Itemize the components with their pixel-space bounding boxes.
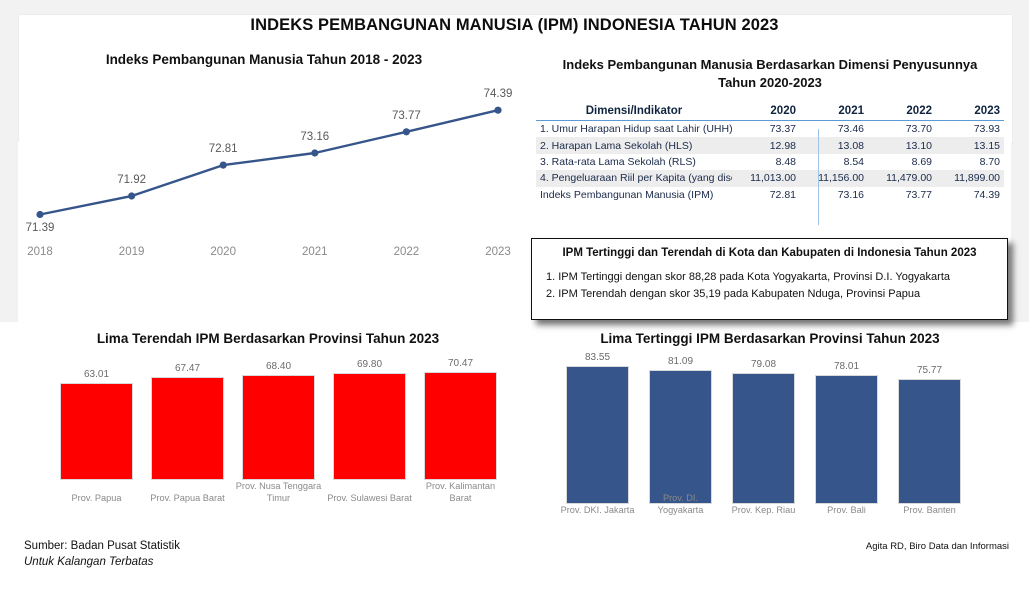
- cell-value: 73.46: [800, 121, 868, 138]
- callout-box-ipm-extremes: IPM Tertinggi dan Terendah di Kota dan K…: [531, 238, 1008, 320]
- bar-rect[interactable]: [649, 370, 712, 504]
- row-label: 3. Rata-rata Lama Sekolah (RLS): [536, 154, 732, 170]
- bar-rect[interactable]: [815, 375, 878, 504]
- bar-category-label: Prov. Nusa Tenggara Timur: [234, 481, 323, 504]
- bar-chart-lowest-title: Lima Terendah IPM Berdasarkan Provinsi T…: [8, 331, 528, 346]
- line-point-label: 73.77: [392, 110, 421, 122]
- table-vertical-divider: [818, 129, 819, 225]
- column-header-2022[interactable]: 2022: [868, 103, 936, 121]
- dimension-table-panel: Indeks Pembangunan Manusia Berdasarkan D…: [520, 56, 1020, 203]
- table-row: 1. Umur Harapan Hidup saat Lahir (UHH)73…: [536, 121, 1004, 138]
- column-header-2021[interactable]: 2021: [800, 103, 868, 121]
- bar-column: 69.80Prov. Sulawesi Barat: [333, 358, 406, 518]
- line-point-label: 73.16: [300, 131, 329, 143]
- line-point-label: 72.81: [209, 143, 238, 155]
- bar-category-label: Prov. DKI. Jakarta: [558, 505, 637, 517]
- page-title: INDEKS PEMBANGUNAN MANUSIA (IPM) INDONES…: [0, 16, 1029, 35]
- credit-label: Agita RD, Biro Data dan Informasi: [866, 541, 1009, 552]
- x-axis-tick-label: 2022: [394, 246, 420, 258]
- bar-column: 68.40Prov. Nusa Tenggara Timur: [242, 358, 315, 518]
- bar-category-label: Prov. Papua: [52, 493, 141, 505]
- bar-value-label: 63.01: [60, 369, 133, 380]
- bar-rect[interactable]: [732, 373, 795, 504]
- dimension-table-title-line1: Indeks Pembangunan Manusia Berdasarkan D…: [520, 56, 1020, 74]
- bar-rect[interactable]: [242, 375, 315, 480]
- cell-value: 8.69: [868, 154, 936, 170]
- column-header-2020[interactable]: 2020: [732, 103, 800, 121]
- bar-rect[interactable]: [898, 379, 961, 504]
- callout-line-terendah: 2. IPM Terendah dengan skor 35,19 pada K…: [546, 286, 993, 303]
- column-header-dimensi[interactable]: Dimensi/Indikator: [536, 103, 732, 121]
- cell-value: 12.98: [732, 137, 800, 153]
- bar-value-label: 79.08: [732, 359, 795, 370]
- table-header-row: Dimensi/Indikator 2020 2021 2022 2023: [536, 103, 1004, 121]
- x-axis-tick-label: 2019: [119, 246, 145, 258]
- bar-chart-highest-title: Lima Tertinggi IPM Berdasarkan Provinsi …: [520, 331, 1020, 346]
- cell-value: 73.70: [868, 121, 936, 138]
- line-point-label: 71.39: [26, 222, 55, 234]
- bar-rect[interactable]: [424, 372, 497, 480]
- cell-value: 8.70: [936, 154, 1004, 170]
- bar-column: 81.09Prov. DI. Yogyakarta: [649, 352, 712, 518]
- bar-value-label: 68.40: [242, 361, 315, 372]
- bar-rect[interactable]: [566, 366, 629, 504]
- row-label: 4. Pengeluaraan Riil per Kapita (yang di…: [536, 170, 732, 186]
- bar-column: 63.01Prov. Papua: [60, 358, 133, 518]
- bar-category-label: Prov. Bali: [807, 505, 886, 517]
- bar-value-label: 69.80: [333, 359, 406, 370]
- table-row: 2. Harapan Lama Sekolah (HLS)12.9813.081…: [536, 137, 1004, 153]
- bar-category-label: Prov. Sulawesi Barat: [325, 493, 414, 505]
- cell-value: 73.16: [800, 187, 868, 203]
- dimension-table: Dimensi/Indikator 2020 2021 2022 2023 1.…: [536, 103, 1004, 203]
- bar-category-label: Prov. Kep. Riau: [724, 505, 803, 517]
- bar-category-label: Prov. Banten: [890, 505, 969, 517]
- x-axis-tick-label: 2021: [302, 246, 328, 258]
- cell-value: 73.77: [868, 187, 936, 203]
- cell-value: 73.93: [936, 121, 1004, 138]
- line-point-label: 71.92: [117, 174, 146, 186]
- bar-category-label: Prov. DI. Yogyakarta: [641, 493, 720, 516]
- bar-column: 83.55Prov. DKI. Jakarta: [566, 352, 629, 518]
- line-point-label: 74.39: [484, 88, 513, 100]
- table-row: Indeks Pembangunan Manusia (IPM)72.8173.…: [536, 187, 1004, 203]
- row-label: 2. Harapan Lama Sekolah (HLS): [536, 137, 732, 153]
- callout-title: IPM Tertinggi dan Terendah di Kota dan K…: [546, 247, 993, 259]
- bar-column: 78.01Prov. Bali: [815, 352, 878, 518]
- bar-chart-highest-plot: 83.55Prov. DKI. Jakarta81.09Prov. DI. Yo…: [566, 352, 1016, 518]
- bar-category-label: Prov. Papua Barat: [143, 493, 232, 505]
- cell-value: 11,156.00: [800, 170, 868, 186]
- cell-value: 13.10: [868, 137, 936, 153]
- bar-column: 79.08Prov. Kep. Riau: [732, 352, 795, 518]
- bar-value-label: 78.01: [815, 361, 878, 372]
- x-axis-tick-label: 2023: [485, 246, 511, 258]
- bar-value-label: 83.55: [566, 352, 629, 363]
- line-chart-ipm: Indeks Pembangunan Manusia Tahun 2018 - …: [8, 48, 520, 278]
- restriction-label: Untuk Kalangan Terbatas: [24, 556, 153, 568]
- line-chart-x-axis: 201820192020202120222023: [8, 246, 520, 266]
- callout-line-tertinggi: 1. IPM Tertinggi dengan skor 88,28 pada …: [546, 269, 993, 286]
- table-row: 4. Pengeluaraan Riil per Kapita (yang di…: [536, 170, 1004, 186]
- bar-rect[interactable]: [151, 377, 224, 480]
- cell-value: 11,479.00: [868, 170, 936, 186]
- cell-value: 73.37: [732, 121, 800, 138]
- cell-value: 8.54: [800, 154, 868, 170]
- source-label: Sumber: Badan Pusat Statistik: [24, 540, 180, 552]
- bar-rect[interactable]: [333, 373, 406, 480]
- cell-value: 13.15: [936, 137, 1004, 153]
- dimension-table-title-line2: Tahun 2020-2023: [520, 74, 1020, 92]
- bar-column: 70.47Prov. Kalimantan Barat: [424, 358, 497, 518]
- line-chart-plot: [8, 78, 520, 238]
- row-label: Indeks Pembangunan Manusia (IPM): [536, 187, 732, 203]
- bar-value-label: 75.77: [898, 365, 961, 376]
- x-axis-tick-label: 2018: [27, 246, 53, 258]
- bar-value-label: 81.09: [649, 356, 712, 367]
- bar-value-label: 70.47: [424, 358, 497, 369]
- cell-value: 74.39: [936, 187, 1004, 203]
- x-axis-tick-label: 2020: [210, 246, 236, 258]
- column-header-2023[interactable]: 2023: [936, 103, 1004, 121]
- cell-value: 72.81: [732, 187, 800, 203]
- bar-category-label: Prov. Kalimantan Barat: [416, 481, 505, 504]
- cell-value: 8.48: [732, 154, 800, 170]
- cell-value: 11,899.00: [936, 170, 1004, 186]
- bar-rect[interactable]: [60, 383, 133, 480]
- bar-value-label: 67.47: [151, 363, 224, 374]
- table-row: 3. Rata-rata Lama Sekolah (RLS)8.488.548…: [536, 154, 1004, 170]
- bar-column: 67.47Prov. Papua Barat: [151, 358, 224, 518]
- bar-chart-lowest-plot: 63.01Prov. Papua67.47Prov. Papua Barat68…: [60, 358, 530, 518]
- cell-value: 13.08: [800, 137, 868, 153]
- dimension-table-title: Indeks Pembangunan Manusia Berdasarkan D…: [520, 56, 1020, 91]
- line-chart-title: Indeks Pembangunan Manusia Tahun 2018 - …: [8, 52, 520, 67]
- cell-value: 11,013.00: [732, 170, 800, 186]
- row-label: 1. Umur Harapan Hidup saat Lahir (UHH): [536, 121, 732, 138]
- bar-column: 75.77Prov. Banten: [898, 352, 961, 518]
